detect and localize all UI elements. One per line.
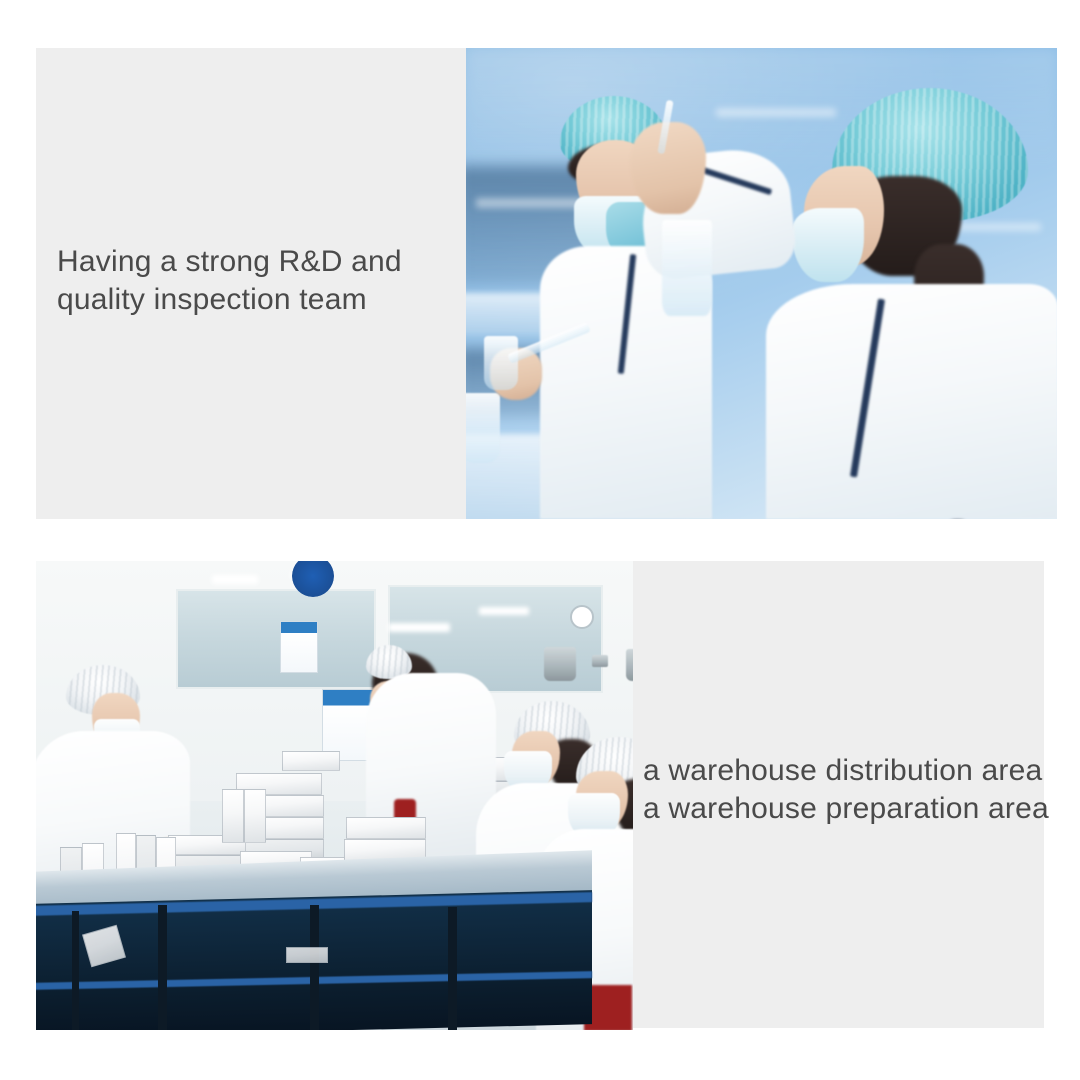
table-leg-1 [158,905,167,1030]
warehouse-steel-pot-1 [544,647,576,681]
technician-right-coat [766,284,1057,519]
warehouse-notice-board-1 [280,621,318,673]
carton-upright-7 [244,789,266,843]
warehouse-packing-photo [36,561,633,1030]
warehouse-steel-pot-2 [626,649,633,681]
warehouse-steel-tray [592,655,608,667]
carton-front-9 [346,817,426,839]
carton-stack-back-6 [282,751,340,771]
warehouse-ceiling-lamp-1 [212,575,258,584]
technician-right-hand [630,122,706,214]
page-canvas: Having a strong R&D and quality inspecti… [0,0,1080,1080]
warehouse-ceiling-lamp-3 [388,623,450,632]
warehouse-caption-text: a warehouse distribution area a warehous… [643,752,1053,829]
table-leg-3 [448,907,457,1030]
technician-right-mask [792,208,864,282]
lab-shelf-2 [716,108,836,117]
rnd-caption-text: Having a strong R&D and quality inspecti… [57,243,457,320]
warehouse-ceiling-lamp-4 [479,607,529,615]
table-leg-4 [72,911,79,1030]
lab-sample-beaker [662,220,712,316]
lab-quality-inspection-photo [466,48,1057,519]
carton-upright-6 [222,789,244,843]
table-shelf-item [286,947,328,963]
warehouse-wall-clock [570,605,594,629]
lab-beaker-bench [466,393,500,463]
warehouse-window-1 [176,589,376,689]
table-leg-2 [310,905,319,1030]
lab-sample-vial-left [484,336,518,390]
